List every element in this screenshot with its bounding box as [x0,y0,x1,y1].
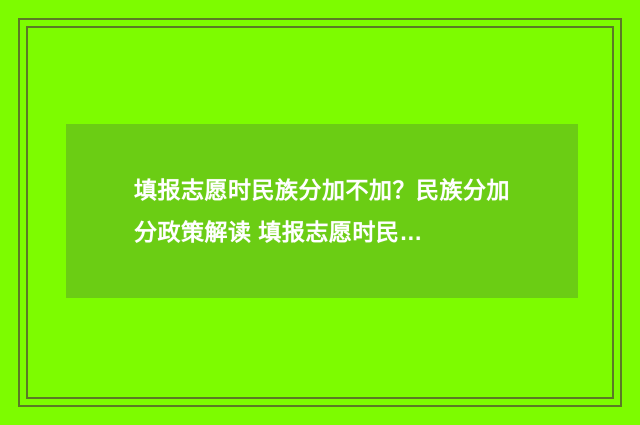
article-title-card: 填报志愿时民族分加不加？民族分加分政策解读 填报志愿时民… [0,0,640,425]
headline-panel: 填报志愿时民族分加不加？民族分加分政策解读 填报志愿时民… [66,124,578,298]
headline-title: 填报志愿时民族分加不加？民族分加分政策解读 填报志愿时民… [66,169,578,253]
